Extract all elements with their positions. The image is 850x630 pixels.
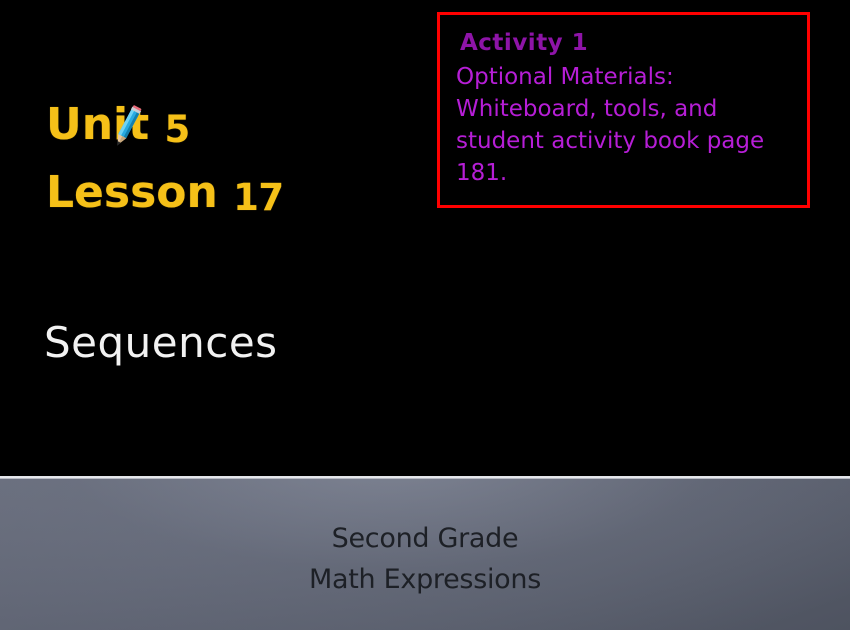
lesson-number: 17 [233,176,284,219]
footer-line-grade: Second Grade [0,518,850,559]
activity-callout-box: Activity 1 Optional Materials: Whiteboar… [437,12,810,208]
unit-number: 5 [165,108,190,151]
activity-body-line-1: Optional Materials: [456,61,797,93]
lesson-label: Lesson [46,167,218,218]
footer-line-curriculum: Math Expressions [0,559,850,600]
unit-label: Unit [46,99,149,150]
activity-heading: Activity 1 [460,27,797,59]
footer-text: Second Grade Math Expressions [0,518,850,600]
page-title: Sequences [44,318,278,368]
activity-body-line-4: 181. [456,157,797,189]
activity-body-line-3: student activity book page [456,125,797,157]
activity-body-line-2: Whiteboard, tools, and [456,93,797,125]
slide-title-block: Unit 5 Lesson 17 [46,92,406,228]
presentation-slide: Unit 5 Lesson 17 Sequences Activity [0,0,850,630]
unit-title-line: Unit 5 [46,92,406,160]
lesson-title-line: Lesson 17 [46,160,406,228]
